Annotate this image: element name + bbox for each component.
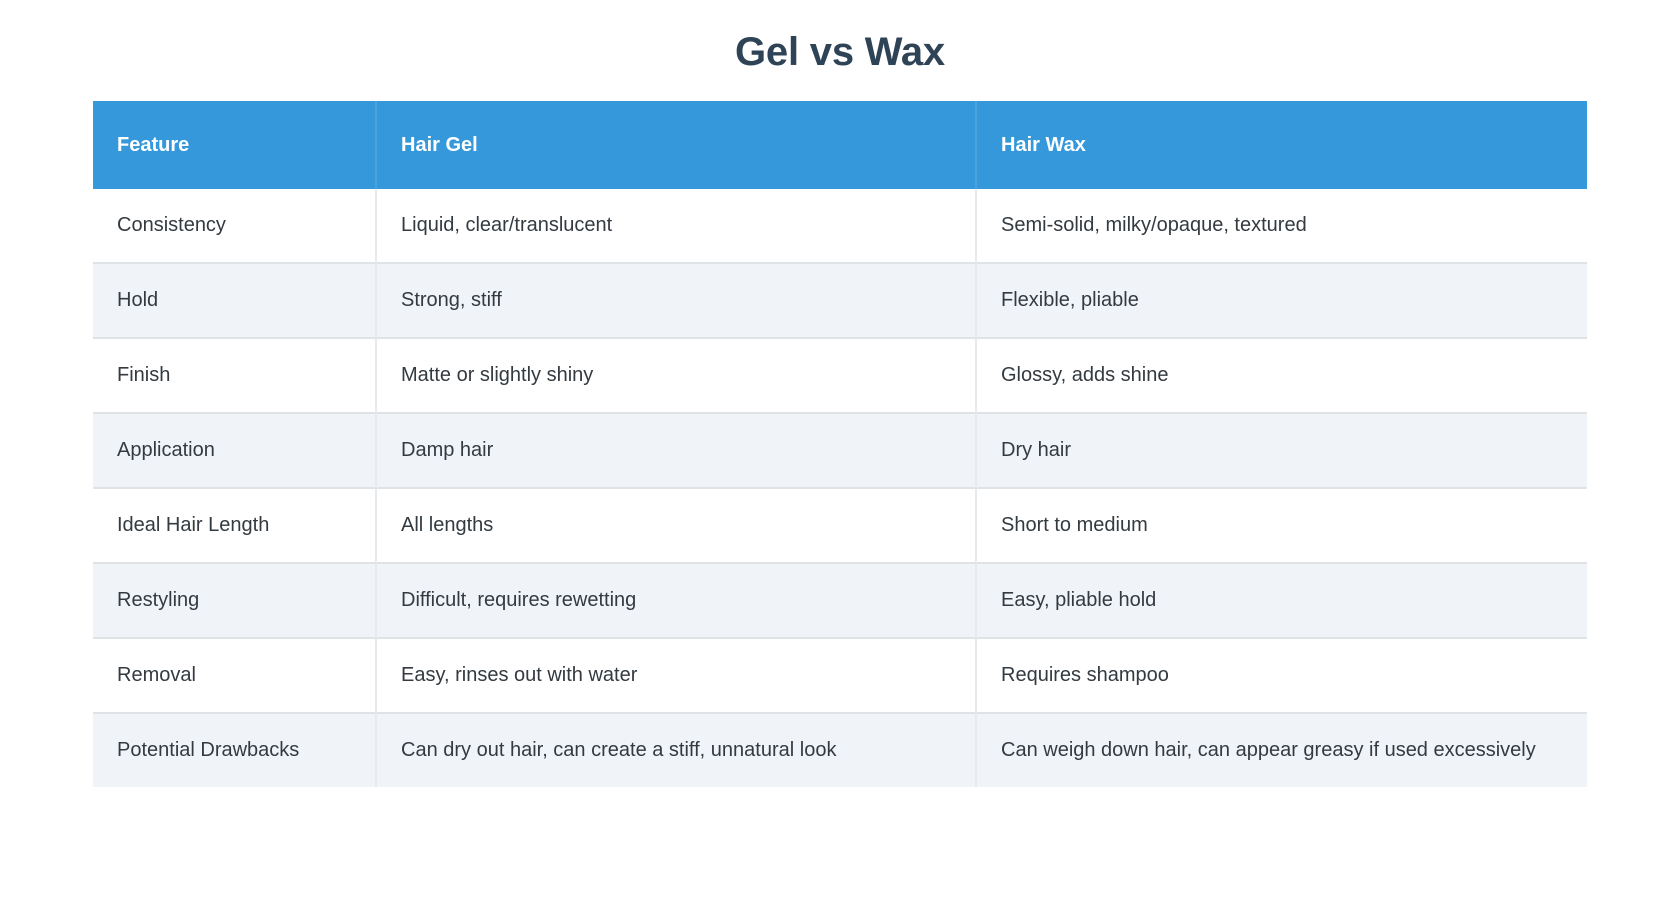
column-header-hair-gel[interactable]: Hair Gel: [377, 101, 977, 189]
cell-hair-gel: Difficult, requires rewetting: [377, 564, 977, 639]
table-header-row: Feature Hair Gel Hair Wax: [93, 101, 1587, 189]
cell-hair-gel: Easy, rinses out with water: [377, 639, 977, 714]
cell-hair-gel: Strong, stiff: [377, 264, 977, 339]
cell-hair-wax: Semi-solid, milky/opaque, textured: [977, 189, 1587, 264]
cell-feature: Removal: [93, 639, 377, 714]
cell-hair-wax: Short to medium: [977, 489, 1587, 564]
cell-hair-gel: Liquid, clear/translucent: [377, 189, 977, 264]
cell-feature: Application: [93, 414, 377, 489]
page-root: Gel vs Wax Feature Hair Gel Hair Wax Con…: [0, 0, 1680, 898]
cell-feature: Finish: [93, 339, 377, 414]
table-row: Restyling Difficult, requires rewetting …: [93, 564, 1587, 639]
cell-hair-wax: Glossy, adds shine: [977, 339, 1587, 414]
cell-hair-wax: Dry hair: [977, 414, 1587, 489]
cell-hair-gel: All lengths: [377, 489, 977, 564]
comparison-table-wrapper: Feature Hair Gel Hair Wax Consistency Li…: [93, 101, 1587, 787]
table-row: Consistency Liquid, clear/translucent Se…: [93, 189, 1587, 264]
table-row: Potential Drawbacks Can dry out hair, ca…: [93, 714, 1587, 787]
cell-feature: Potential Drawbacks: [93, 714, 377, 787]
column-header-feature[interactable]: Feature: [93, 101, 377, 189]
page-title: Gel vs Wax: [0, 0, 1680, 76]
table-row: Application Damp hair Dry hair: [93, 414, 1587, 489]
cell-hair-wax: Easy, pliable hold: [977, 564, 1587, 639]
table-row: Ideal Hair Length All lengths Short to m…: [93, 489, 1587, 564]
table-row: Finish Matte or slightly shiny Glossy, a…: [93, 339, 1587, 414]
cell-hair-wax: Requires shampoo: [977, 639, 1587, 714]
cell-feature: Hold: [93, 264, 377, 339]
cell-feature: Ideal Hair Length: [93, 489, 377, 564]
table-header: Feature Hair Gel Hair Wax: [93, 101, 1587, 189]
cell-hair-gel: Damp hair: [377, 414, 977, 489]
comparison-table: Feature Hair Gel Hair Wax Consistency Li…: [93, 101, 1587, 787]
table-body: Consistency Liquid, clear/translucent Se…: [93, 189, 1587, 787]
cell-feature: Restyling: [93, 564, 377, 639]
table-row: Removal Easy, rinses out with water Requ…: [93, 639, 1587, 714]
table-row: Hold Strong, stiff Flexible, pliable: [93, 264, 1587, 339]
column-header-hair-wax[interactable]: Hair Wax: [977, 101, 1587, 189]
cell-hair-wax: Flexible, pliable: [977, 264, 1587, 339]
cell-hair-gel: Can dry out hair, can create a stiff, un…: [377, 714, 977, 787]
cell-hair-wax: Can weigh down hair, can appear greasy i…: [977, 714, 1587, 787]
cell-hair-gel: Matte or slightly shiny: [377, 339, 977, 414]
cell-feature: Consistency: [93, 189, 377, 264]
